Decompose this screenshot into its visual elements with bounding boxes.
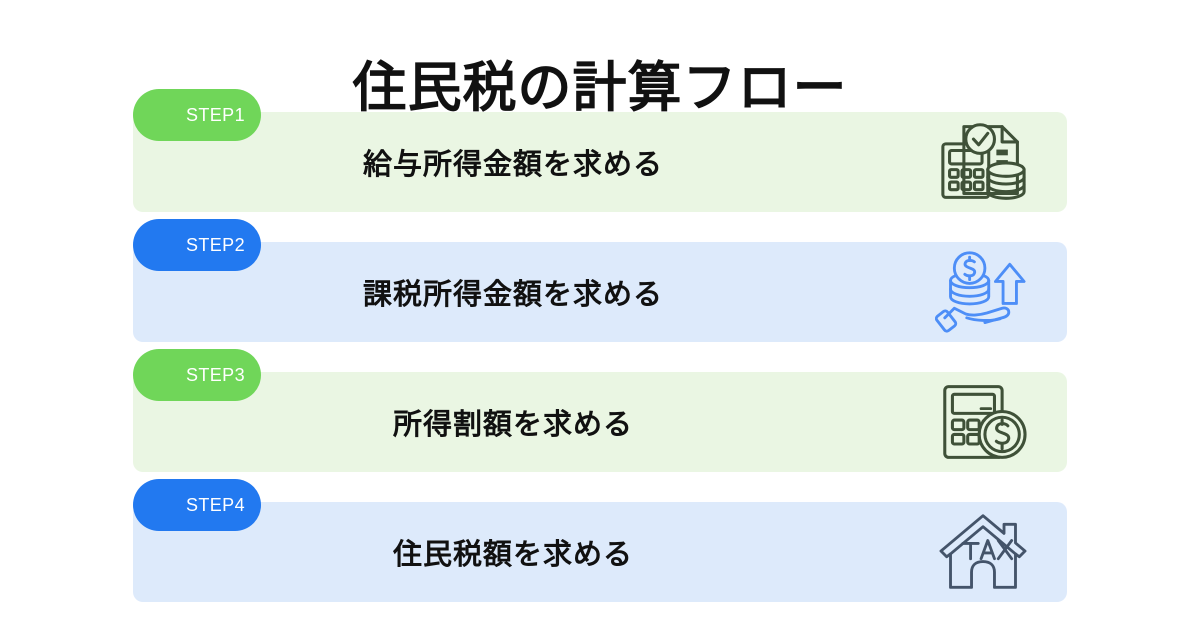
flow-step-row: 課税所得金額を求める: [133, 242, 1067, 342]
step-badge-label: STEP2: [186, 235, 245, 256]
step-badge: STEP2: [133, 219, 261, 271]
steps-flow-list: 給与所得金額を求める: [133, 112, 1067, 602]
step-badge-label: STEP3: [186, 365, 245, 386]
calculator-document-check-coins-icon: [935, 119, 1031, 205]
step-badge: STEP4: [133, 479, 261, 531]
flow-step-row: 所得割額を求める: [133, 372, 1067, 472]
step-badge-label: STEP1: [186, 105, 245, 126]
flow-step-row: 住民税額を求める STEP4: [133, 502, 1067, 602]
step-badge: STEP1: [133, 89, 261, 141]
flow-step-row: 給与所得金額を求める: [133, 112, 1067, 212]
step-badge-label: STEP4: [186, 495, 245, 516]
hand-coins-up-arrow-icon: [935, 249, 1031, 335]
step-badge: STEP3: [133, 349, 261, 401]
infographic-page: 住民税の計算フロー 給与所得金額を求める: [0, 0, 1200, 630]
house-tax-icon: [935, 509, 1031, 595]
calculator-dollar-coin-icon: [935, 379, 1031, 465]
